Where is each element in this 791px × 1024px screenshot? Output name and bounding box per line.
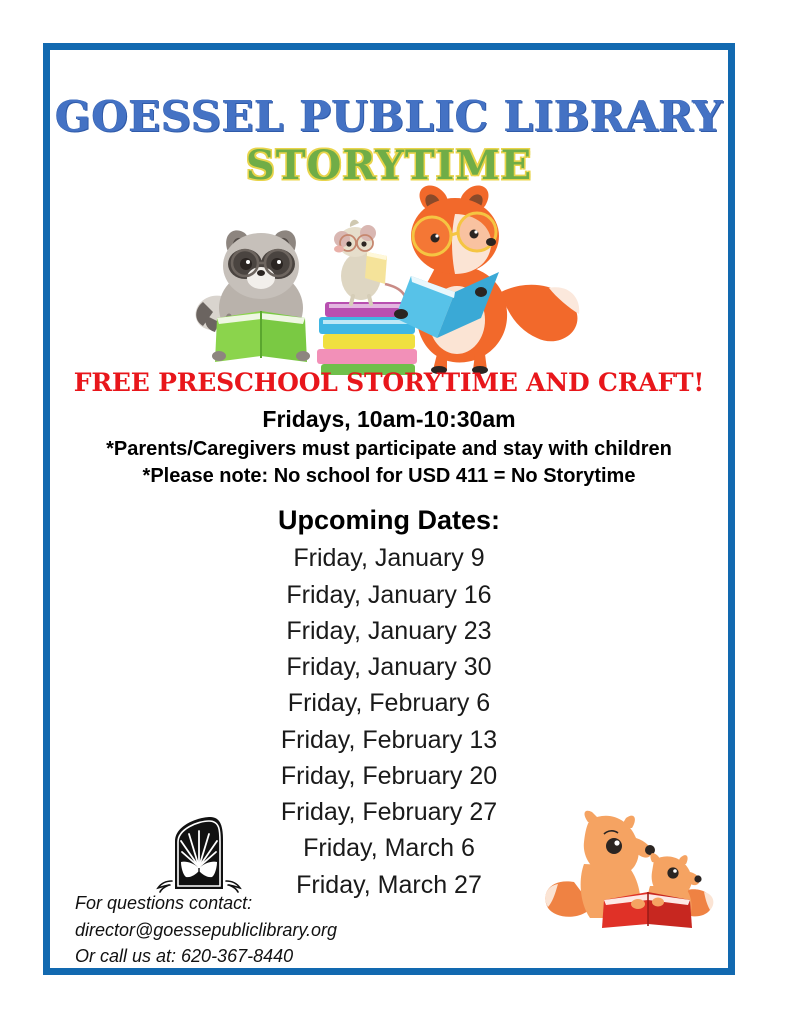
schedule-time-line: Fridays, 10am-10:30am <box>50 406 728 433</box>
fox-illustration <box>394 185 579 374</box>
flyer-page: GOESSEL PUBLIC LIBRARY STORYTIME <box>0 0 791 1024</box>
note-caregivers: *Parents/Caregivers must participate and… <box>50 438 728 461</box>
library-logo-icon <box>148 815 250 893</box>
contact-info: For questions contact: director@goessepu… <box>75 890 337 968</box>
animals-reading-graphic <box>189 180 589 375</box>
flyer-content: GOESSEL PUBLIC LIBRARY STORYTIME <box>50 50 728 968</box>
date-list-item: Friday, February 20 <box>50 758 728 794</box>
fox-pair-illustration <box>540 808 720 928</box>
date-list-item: Friday, January 16 <box>50 577 728 613</box>
date-list-item: Friday, February 13 <box>50 722 728 758</box>
contact-phone[interactable]: Or call us at: 620-367-8440 <box>75 943 337 968</box>
library-logo <box>148 815 250 893</box>
date-list-item: Friday, February 6 <box>50 685 728 721</box>
upcoming-dates-heading: Upcoming Dates: <box>50 502 728 538</box>
contact-line-prompt: For questions contact: <box>75 890 337 917</box>
mouse-illustration <box>334 220 405 304</box>
date-list-item: Friday, January 9 <box>50 540 728 576</box>
flyer-border-frame: GOESSEL PUBLIC LIBRARY STORYTIME <box>43 43 735 975</box>
date-list-item: Friday, January 23 <box>50 613 728 649</box>
headline-free-storytime: FREE PRESCHOOL STORYTIME AND CRAFT! <box>50 368 728 397</box>
foxes-reading-graphic <box>540 808 720 928</box>
storytime-animals-illustration <box>50 180 728 375</box>
contact-email[interactable]: director@goessepubliclibrary.org <box>75 917 337 944</box>
raccoon-illustration <box>196 230 310 362</box>
note-no-school: *Please note: No school for USD 411 = No… <box>50 465 728 488</box>
date-list-item: Friday, January 30 <box>50 649 728 685</box>
page-title: GOESSEL PUBLIC LIBRARY <box>50 92 728 141</box>
